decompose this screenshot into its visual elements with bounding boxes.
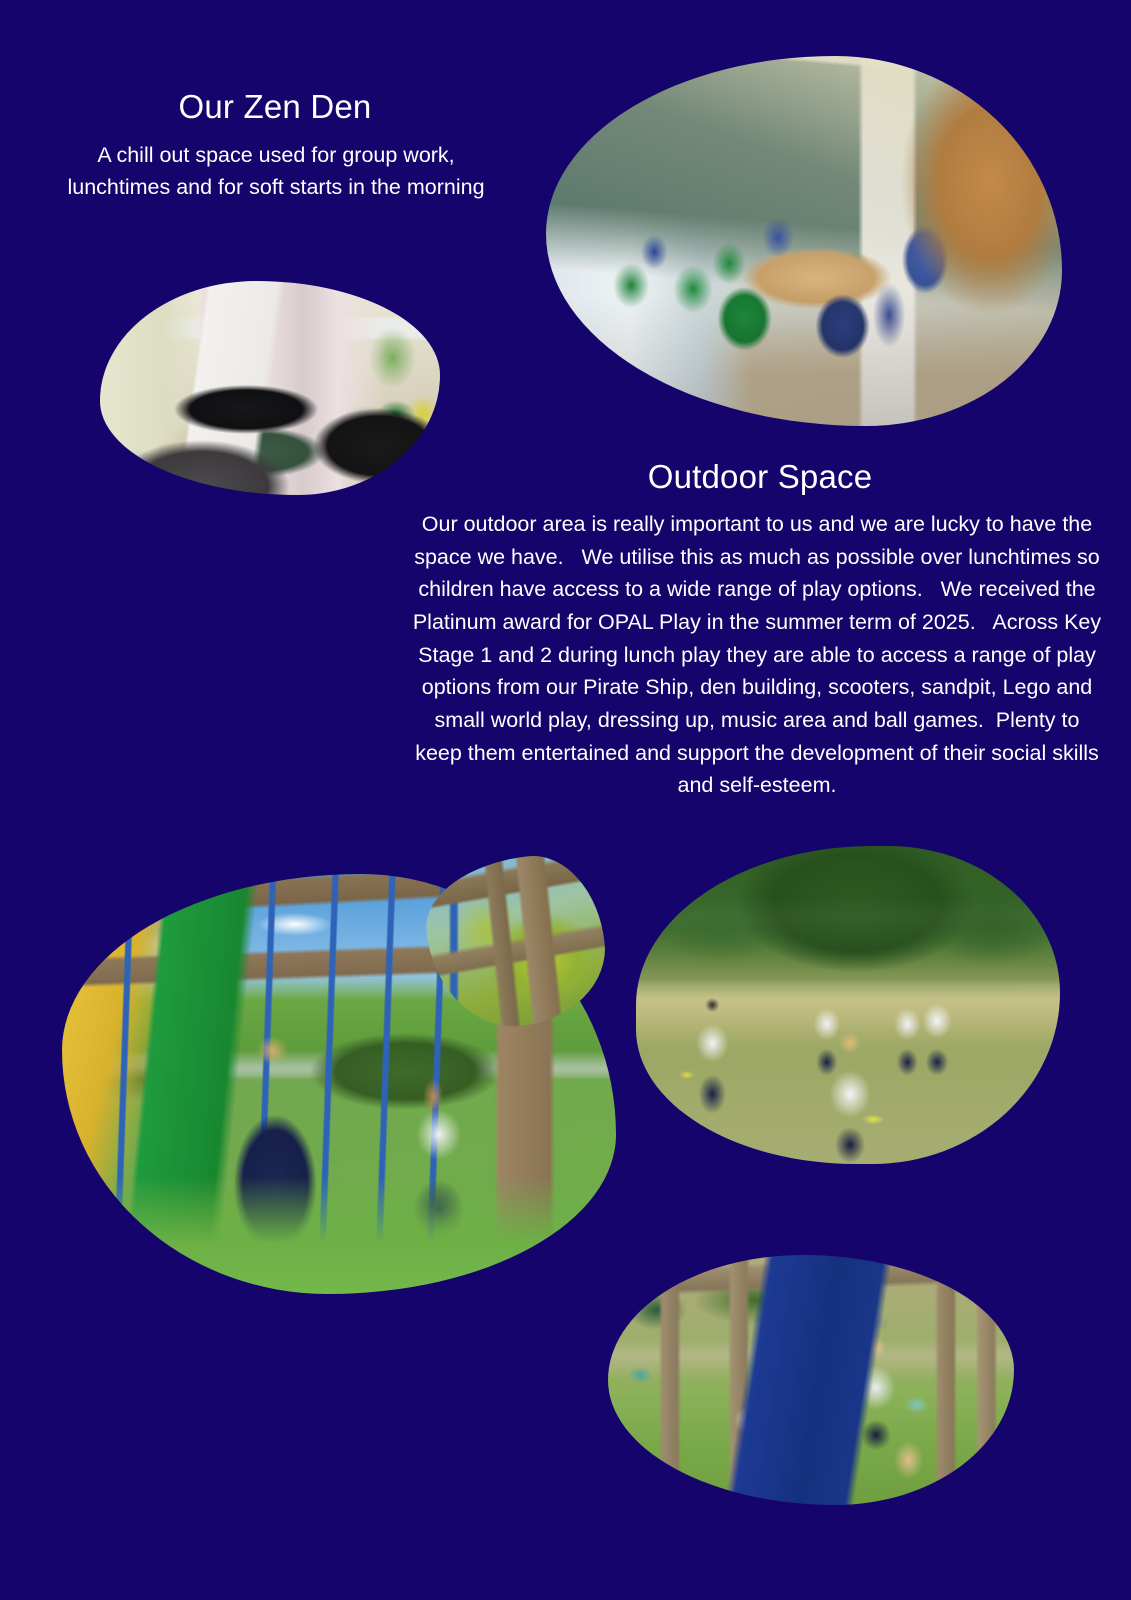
zen-den-heading: Our Zen Den [60,88,490,127]
zen-den-classroom-photo [546,56,1062,426]
outdoor-space-body-text: Our outdoor area is really important to … [412,508,1102,802]
zen-den-lounge-photo [100,281,440,495]
field-ball-games-photo [636,846,1060,1164]
outdoor-space-heading: Outdoor Space [415,458,1105,497]
brochure-page: Our Zen Den A chill out space used for g… [0,0,1131,1600]
den-building-photo [608,1255,1014,1505]
zen-den-body-text: A chill out space used for group work, l… [58,140,494,204]
